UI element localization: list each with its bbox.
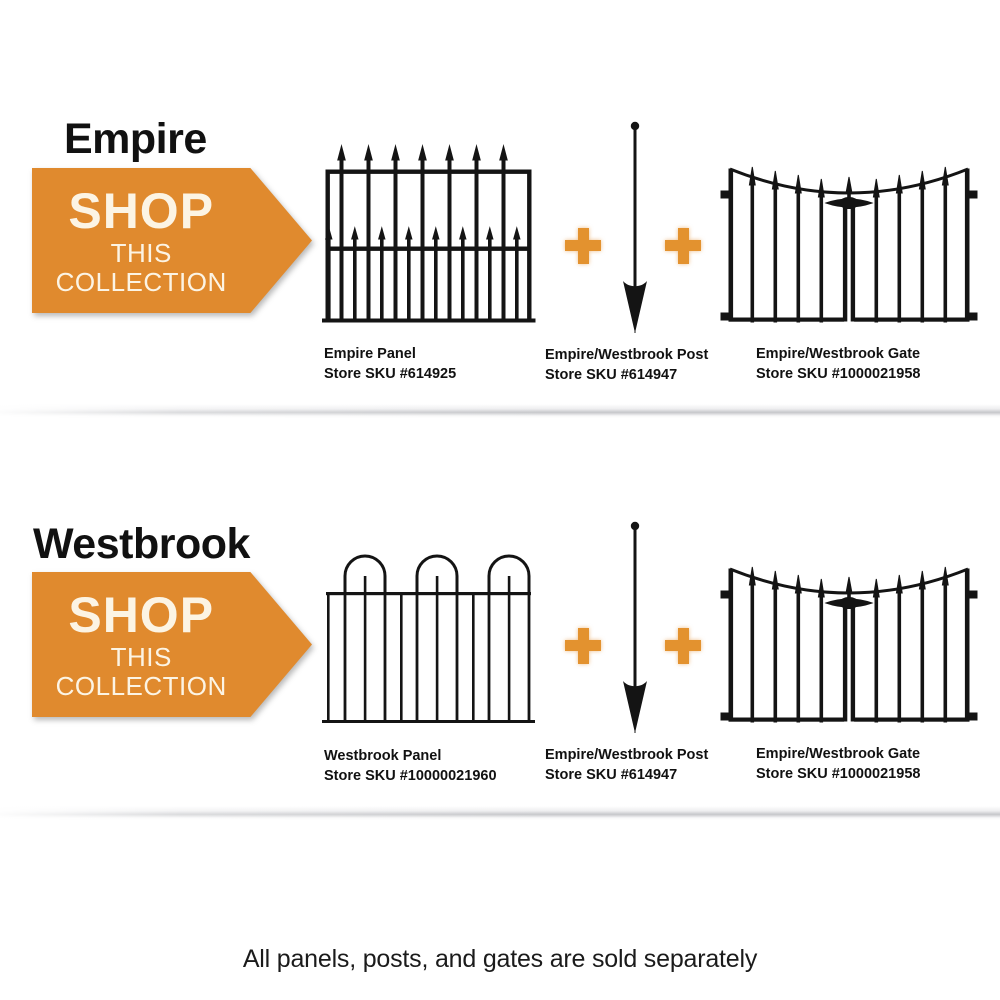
product-sku: Store SKU #614947 <box>545 766 708 786</box>
plus-icon <box>565 628 601 664</box>
product-sku: Store SKU #1000021958 <box>756 765 920 785</box>
product-sku: Store SKU #614947 <box>545 366 708 386</box>
product-name: Westbrook Panel <box>324 747 497 767</box>
product-name: Empire/Westbrook Gate <box>756 345 920 365</box>
product-name: Empire Panel <box>324 345 456 365</box>
shop-this-collection-banner-westbrook[interactable]: SHOP THIS COLLECTION <box>32 572 312 717</box>
product-label-westbrook-gate: Empire/Westbrook Gate Store SKU #1000021… <box>756 745 920 784</box>
banner-collection-label: COLLECTION <box>56 269 227 295</box>
plus-icon <box>565 228 601 264</box>
plus-icon <box>665 228 701 264</box>
product-collection-infographic: Empire SHOP THIS COLLECTION <box>0 0 1000 1000</box>
product-westbrook-gate[interactable]: Empire/Westbrook Gate Store SKU #1000021… <box>718 555 980 790</box>
product-label-westbrook-post: Empire/Westbrook Post Store SKU #614947 <box>545 746 708 785</box>
section-divider <box>0 806 1000 820</box>
product-sku: Store SKU #614925 <box>324 365 456 385</box>
banner-shop-label: SHOP <box>68 590 214 640</box>
banner-collection-label: COLLECTION <box>56 673 227 699</box>
banner-text-block: SHOP THIS COLLECTION <box>32 168 250 313</box>
collection-title-westbrook: Westbrook <box>33 520 250 569</box>
double-gate-illustration <box>718 155 980 337</box>
product-name: Empire/Westbrook Gate <box>756 745 920 765</box>
product-label-empire-post: Empire/Westbrook Post Store SKU #614947 <box>545 346 708 385</box>
product-empire-gate[interactable]: Empire/Westbrook Gate Store SKU #1000021… <box>718 155 980 390</box>
product-label-empire-panel: Empire Panel Store SKU #614925 <box>324 345 456 384</box>
product-label-empire-gate: Empire/Westbrook Gate Store SKU #1000021… <box>756 345 920 384</box>
plus-icon <box>665 628 701 664</box>
footer-note: All panels, posts, and gates are sold se… <box>0 945 1000 974</box>
collection-title-empire: Empire <box>64 115 207 164</box>
product-label-westbrook-panel: Westbrook Panel Store SKU #10000021960 <box>324 747 497 786</box>
banner-this-label: THIS <box>111 644 172 670</box>
double-gate-illustration <box>718 555 980 737</box>
empire-panel-illustration <box>322 140 537 335</box>
divider-fade <box>0 806 1000 820</box>
product-name: Empire/Westbrook Post <box>545 746 708 766</box>
banner-text-block: SHOP THIS COLLECTION <box>32 572 250 717</box>
shop-this-collection-banner-empire[interactable]: SHOP THIS COLLECTION <box>32 168 312 313</box>
product-empire-panel[interactable]: Empire Panel Store SKU #614925 <box>322 140 537 390</box>
banner-this-label: THIS <box>111 240 172 266</box>
banner-shop-label: SHOP <box>68 186 214 236</box>
product-name: Empire/Westbrook Post <box>545 346 708 366</box>
collection-row-empire: Empire SHOP THIS COLLECTION <box>0 0 1000 410</box>
product-westbrook-panel[interactable]: Westbrook Panel Store SKU #10000021960 <box>322 542 537 792</box>
product-sku: Store SKU #1000021958 <box>756 365 920 385</box>
westbrook-panel-illustration <box>322 542 537 737</box>
product-sku: Store SKU #10000021960 <box>324 767 497 787</box>
